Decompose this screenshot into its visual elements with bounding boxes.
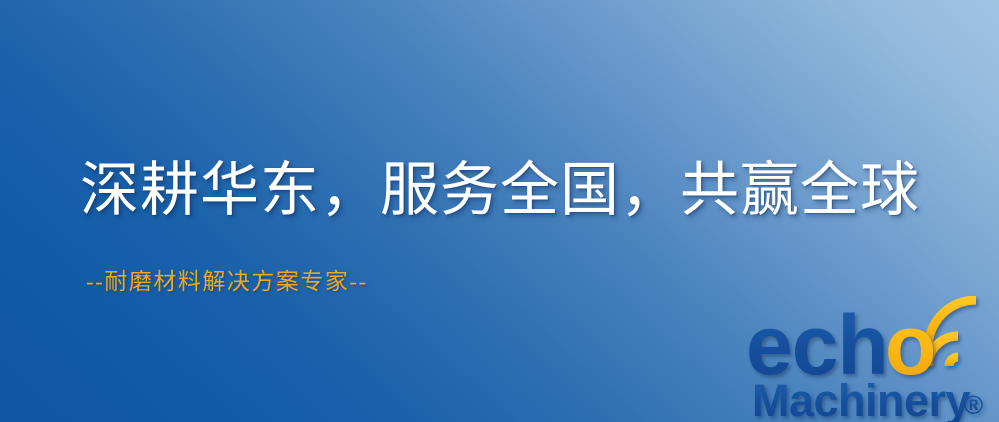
logo-wordmark: ech o Machinery ® <box>742 296 999 422</box>
page-subtitle: --耐磨材料解决方案专家-- <box>86 268 368 296</box>
logo-tagline: Machinery <box>752 375 971 422</box>
company-logo[interactable]: ech o Machinery ® <box>742 296 999 422</box>
hero-banner: 深耕华东，服务全国，共赢全球 --耐磨材料解决方案专家-- <box>0 0 999 422</box>
registered-trademark-icon: ® <box>964 390 983 420</box>
page-title: 深耕华东，服务全国，共赢全球 <box>80 155 920 225</box>
